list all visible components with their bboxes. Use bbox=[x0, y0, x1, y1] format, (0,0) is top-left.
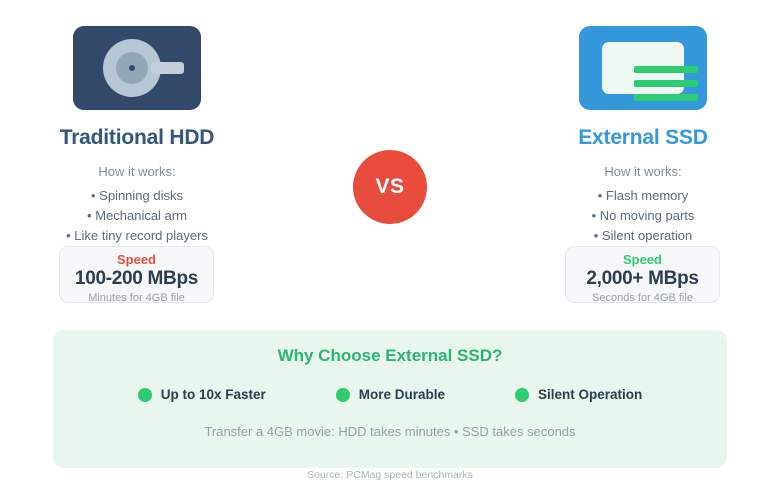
hdd-bullet-list: • Spinning disks • Mechanical arm • Like… bbox=[7, 186, 267, 246]
benefit-label: Up to 10x Faster bbox=[161, 387, 266, 402]
ssd-speed-value: 2,000+ MBps bbox=[566, 268, 719, 290]
hdd-bullet-item: • Spinning disks bbox=[7, 186, 267, 206]
hard-disk-drive-icon bbox=[73, 26, 201, 110]
ssd-title: External SSD bbox=[513, 126, 773, 150]
ssd-memory-bar bbox=[634, 66, 698, 73]
ssd-chip-body bbox=[602, 42, 684, 94]
ssd-bullet-item: • Flash memory bbox=[513, 186, 773, 206]
ssd-speed-note: Seconds for 4GB file bbox=[566, 292, 719, 304]
hdd-spindle-dot bbox=[129, 65, 135, 71]
ssd-how-it-works-label: How it works: bbox=[513, 164, 773, 179]
hdd-actuator-arm bbox=[151, 62, 184, 74]
hdd-bullet-item: • Mechanical arm bbox=[7, 206, 267, 226]
benefit-item: More Durable bbox=[336, 387, 445, 402]
ssd-bullet-list: • Flash memory • No moving parts • Silen… bbox=[513, 186, 773, 246]
hdd-speed-value: 100-200 MBps bbox=[60, 268, 213, 290]
ssd-bullet-item: • No moving parts bbox=[513, 206, 773, 226]
versus-badge: VS bbox=[353, 150, 427, 224]
ssd-memory-bar bbox=[634, 94, 698, 101]
infographic-canvas: Traditional HDD How it works: • Spinning… bbox=[0, 0, 780, 500]
ssd-speed-label: Speed bbox=[566, 252, 719, 267]
hdd-speed-card: Speed 100-200 MBps Minutes for 4GB file bbox=[59, 246, 214, 303]
transfer-footnote: Transfer a 4GB movie: HDD takes minutes … bbox=[53, 424, 727, 439]
solid-state-drive-icon bbox=[579, 26, 707, 110]
bullet-dot-icon bbox=[515, 388, 529, 402]
ssd-column: External SSD How it works: • Flash memor… bbox=[513, 26, 773, 246]
hdd-column: Traditional HDD How it works: • Spinning… bbox=[7, 26, 267, 246]
source-attribution: Source: PCMag speed benchmarks bbox=[0, 469, 780, 481]
hdd-how-it-works-label: How it works: bbox=[7, 164, 267, 179]
benefit-item: Up to 10x Faster bbox=[138, 387, 266, 402]
bullet-dot-icon bbox=[336, 388, 350, 402]
hdd-title: Traditional HDD bbox=[7, 126, 267, 150]
why-choose-panel: Why Choose External SSD? Up to 10x Faste… bbox=[53, 330, 727, 468]
ssd-speed-card: Speed 2,000+ MBps Seconds for 4GB file bbox=[565, 246, 720, 303]
benefit-item: Silent Operation bbox=[515, 387, 642, 402]
benefit-label: Silent Operation bbox=[538, 387, 642, 402]
ssd-memory-bar bbox=[634, 80, 698, 87]
ssd-bullet-item: • Silent operation bbox=[513, 226, 773, 246]
hdd-speed-note: Minutes for 4GB file bbox=[60, 292, 213, 304]
benefits-row: Up to 10x Faster More Durable Silent Ope… bbox=[53, 387, 727, 402]
benefit-label: More Durable bbox=[359, 387, 445, 402]
hdd-bullet-item: • Like tiny record players bbox=[7, 226, 267, 246]
bullet-dot-icon bbox=[138, 388, 152, 402]
hdd-speed-label: Speed bbox=[60, 252, 213, 267]
why-choose-title: Why Choose External SSD? bbox=[53, 346, 727, 366]
